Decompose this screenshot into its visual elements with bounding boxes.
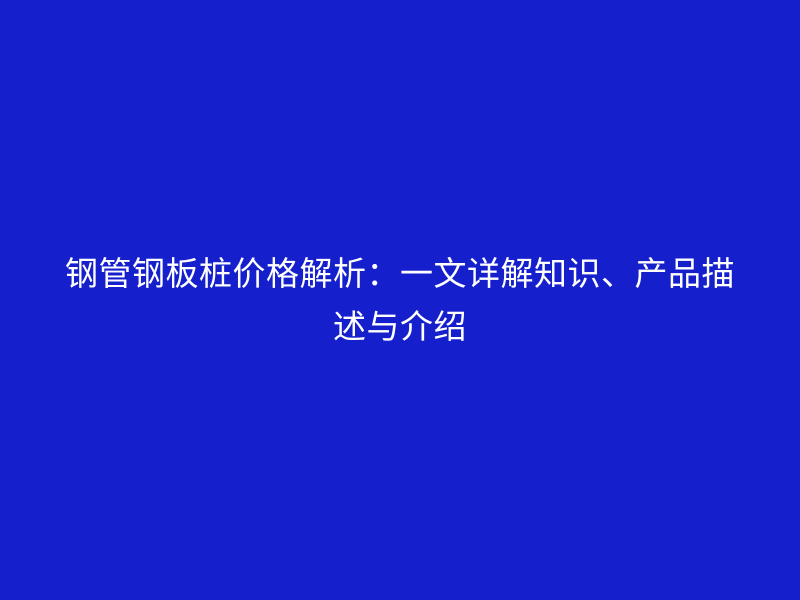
title-block: 钢管钢板桩价格解析：一文详解知识、产品描述与介绍 <box>50 247 750 353</box>
page-title: 钢管钢板桩价格解析：一文详解知识、产品描述与介绍 <box>50 247 750 353</box>
title-card: 钢管钢板桩价格解析：一文详解知识、产品描述与介绍 <box>0 0 800 600</box>
